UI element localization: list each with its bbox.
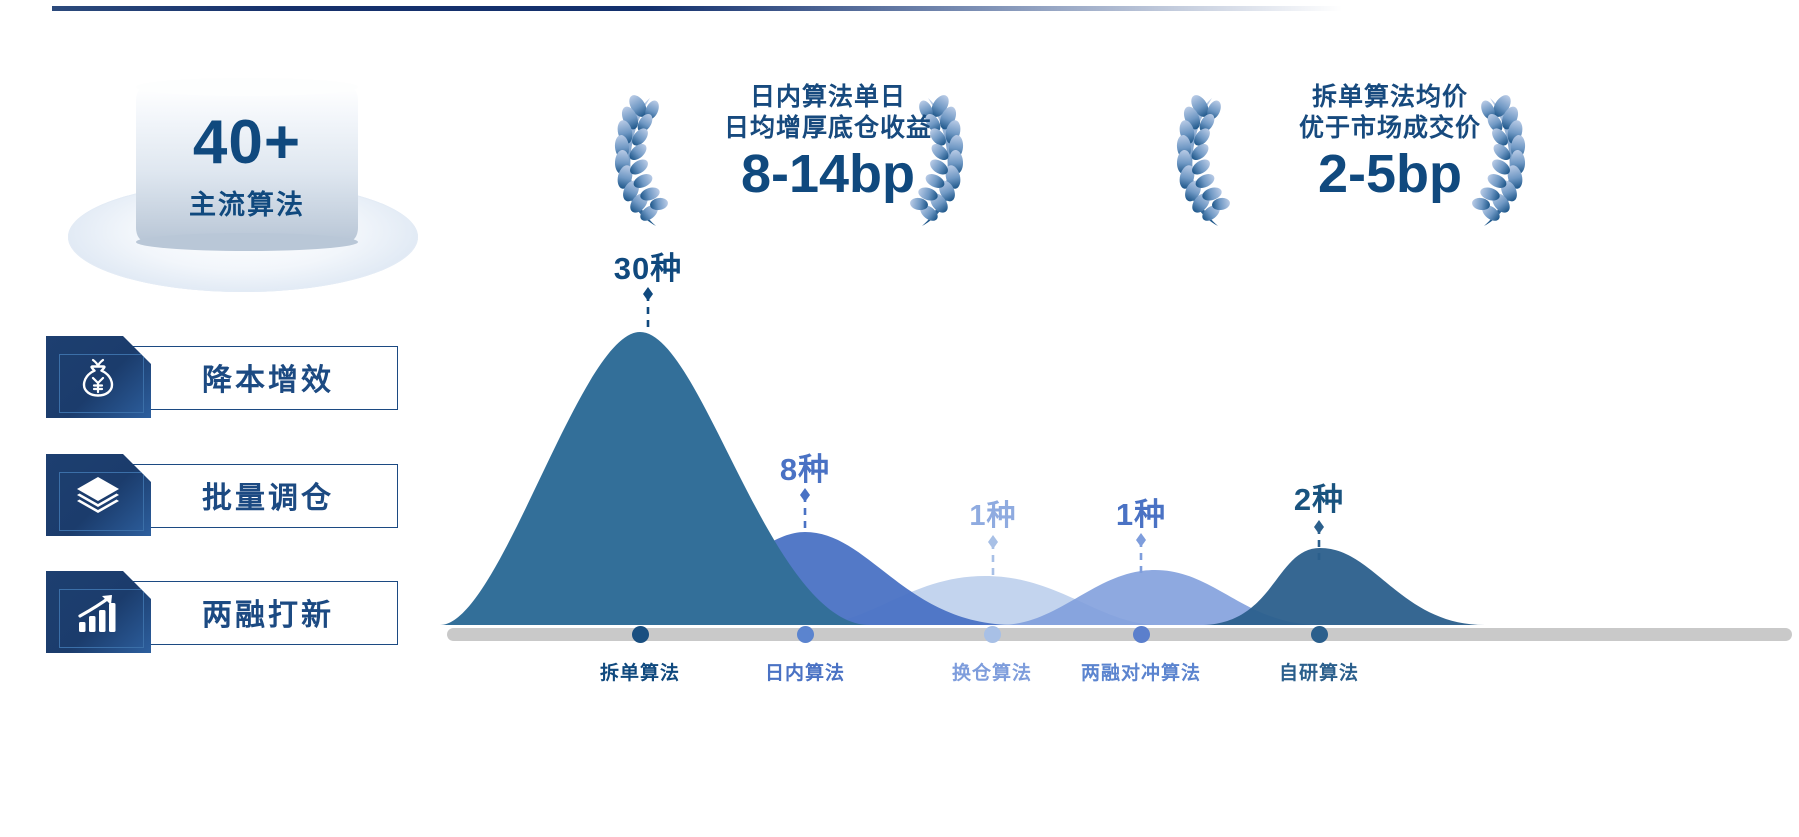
medal-text-block: 日内算法单日 日均增厚底仓收益 8-14bp [692,82,964,203]
axis-tick-label-rinei: 日内算法 [765,658,845,685]
algorithm-count-badge: 40+ 主流算法 [60,70,430,300]
feature-card-batch-rebalance[interactable]: 批量调仓 [46,454,398,536]
badge-subtitle: 主流算法 [136,192,358,219]
feature-card-label: 降本增效 [202,355,334,399]
peak-label-rinei: 8种 [780,444,830,489]
axis-dot-lianrong[interactable] [1133,626,1150,643]
axis-dot-huancang[interactable] [984,626,1001,643]
peak-label-chaidan: 30种 [614,243,682,288]
axis-dot-rinei[interactable] [797,626,814,643]
medal-value: 2-5bp [1254,146,1526,203]
badge-number: 40+ [136,112,358,174]
laurel-wreath-icon [606,90,676,230]
peak-label-huancang: 1种 [969,492,1016,534]
money-bag-icon [74,354,122,402]
axis-tick-label-lianrong: 两融对冲算法 [1081,658,1201,685]
algorithm-distribution-chart [440,250,1785,650]
badge-cylinder: 40+ 主流算法 [136,86,358,242]
medal-text-block: 拆单算法均价 优于市场成交价 2-5bp [1254,82,1526,203]
top-accent-line [52,6,1342,11]
medal-value: 8-14bp [692,146,964,203]
layers-icon [74,472,122,520]
feature-card-label: 两融打新 [202,590,334,634]
peak-label-ziyan: 2种 [1294,474,1344,519]
axis-dot-ziyan[interactable] [1311,626,1328,643]
medal-intraday-algo: 日内算法单日 日均增厚底仓收益 8-14bp [606,82,972,242]
feature-card-cost-efficiency[interactable]: 降本增效 [46,336,398,418]
axis-tick-label-ziyan: 自研算法 [1279,658,1359,685]
feature-card-label: 批量调仓 [202,473,334,517]
laurel-wreath-icon [1168,90,1238,230]
growth-chart-icon [74,589,122,637]
medal-line-1: 拆单算法均价 [1254,82,1526,113]
medal-line-2: 日均增厚底仓收益 [692,113,964,144]
feature-card-margin-newshare[interactable]: 两融打新 [46,571,398,653]
peak-label-lianrong: 1种 [1116,489,1166,534]
chart-curves [440,250,1785,635]
axis-tick-label-chaidan: 拆单算法 [600,658,680,685]
medal-line-1: 日内算法单日 [692,82,964,113]
medal-line-2: 优于市场成交价 [1254,113,1526,144]
axis-tick-label-huancang: 换仓算法 [952,658,1032,685]
medal-order-split-algo: 拆单算法均价 优于市场成交价 2-5bp [1168,82,1534,242]
axis-dot-chaidan[interactable] [632,626,649,643]
